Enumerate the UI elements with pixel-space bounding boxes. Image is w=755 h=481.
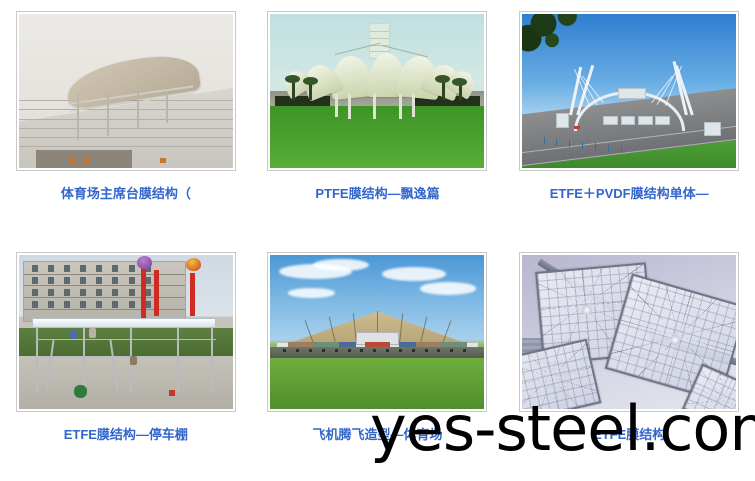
thumbnail-frame-6[interactable] (519, 252, 739, 412)
gallery-item-2[interactable]: PTFE膜结构—飘逸篇 (252, 0, 504, 241)
thumbnail-frame-1[interactable] (16, 11, 236, 171)
gallery-item-6[interactable]: ETFE膜结构 (503, 241, 755, 481)
gallery-item-caption[interactable]: ETFE膜结构—停车棚 (64, 424, 188, 443)
gallery-item-3[interactable]: ETFE＋PVDF膜结构单体— (503, 0, 755, 241)
gallery-item-4[interactable]: ETFE膜结构—停车棚 (0, 241, 252, 481)
etfe-carport-construction-photo (19, 255, 233, 409)
stadium-grandstand-membrane-photo (19, 14, 233, 168)
gallery-item-5[interactable]: 飞机腾飞造型—体育场 (252, 241, 504, 481)
thumbnail-frame-5[interactable] (267, 252, 487, 412)
gallery-item-1[interactable]: 体育场主席台膜结构（ (0, 0, 252, 241)
etfe-cushion-panels-photo (522, 255, 736, 409)
ptfe-fan-canopy-photo (270, 14, 484, 168)
thumbnail-frame-3[interactable] (519, 11, 739, 171)
airplane-takeoff-stadium-photo (270, 255, 484, 409)
gallery-item-caption[interactable]: ETFE＋PVDF膜结构单体— (550, 183, 709, 202)
thumbnail-frame-2[interactable] (267, 11, 487, 171)
gallery-item-caption[interactable]: PTFE膜结构—飘逸篇 (315, 183, 439, 202)
gallery-item-caption[interactable]: ETFE膜结构 (593, 424, 665, 443)
etfe-pvdf-arch-bridge-render (522, 14, 736, 168)
image-gallery-grid: 体育场主席台膜结构（ (0, 0, 755, 481)
gallery-item-caption[interactable]: 飞机腾飞造型—体育场 (312, 424, 442, 443)
thumbnail-frame-4[interactable] (16, 252, 236, 412)
gallery-item-caption[interactable]: 体育场主席台膜结构（ (61, 183, 191, 202)
